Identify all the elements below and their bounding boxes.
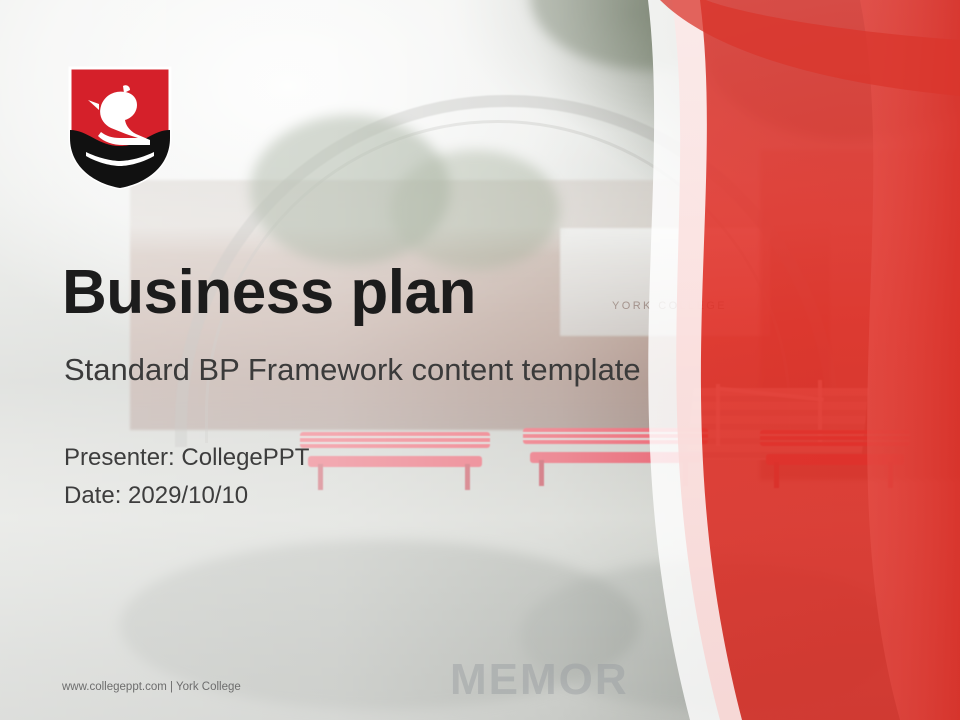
- page-subtitle: Standard BP Framework content template: [64, 352, 641, 388]
- watermark-text: MEMOR: [450, 655, 629, 705]
- date-line: Date: 2029/10/10: [64, 482, 248, 510]
- presentation-slide: YORK COLLEGE MEMOR: [0, 0, 960, 720]
- york-college-logo: [68, 66, 172, 190]
- footer-credit: www.collegeppt.com | York College: [62, 681, 241, 693]
- page-title: Business plan: [62, 262, 476, 324]
- presenter-line: Presenter: CollegePPT: [64, 444, 309, 472]
- cardinal-shield-icon: [68, 66, 172, 190]
